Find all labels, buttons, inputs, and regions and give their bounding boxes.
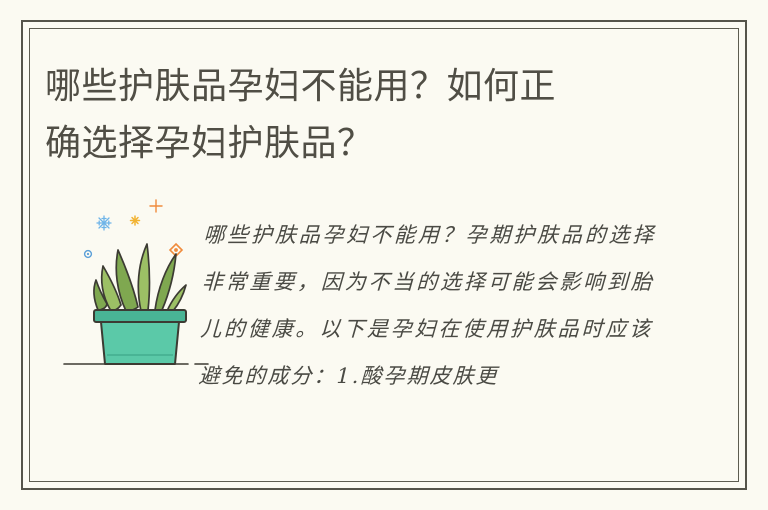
pot-rim bbox=[94, 310, 186, 322]
page-title-line-2: 确选择孕妇护肤品？ bbox=[45, 115, 685, 172]
potted-plant-illustration bbox=[62, 192, 212, 372]
page-title-line-1: 哪些护肤品孕妇不能用？如何正 bbox=[45, 58, 685, 115]
snowflake-sparkle bbox=[97, 216, 111, 230]
plant-leaves bbox=[94, 244, 186, 311]
article-body-text: 哪些护肤品孕妇不能用？孕期护肤品的选择非常重要，因为不当的选择可能会影响到胎儿的… bbox=[198, 212, 657, 400]
article-card: 哪些护肤品孕妇不能用？如何正 确选择孕妇护肤品？ bbox=[0, 0, 768, 510]
page-title: 哪些护肤品孕妇不能用？如何正 确选择孕妇护肤品？ bbox=[45, 58, 685, 172]
dot-sparkle bbox=[131, 216, 140, 225]
cross-sparkle bbox=[150, 200, 162, 212]
pot-body bbox=[101, 322, 179, 364]
small-circle-sparkle bbox=[85, 251, 92, 258]
